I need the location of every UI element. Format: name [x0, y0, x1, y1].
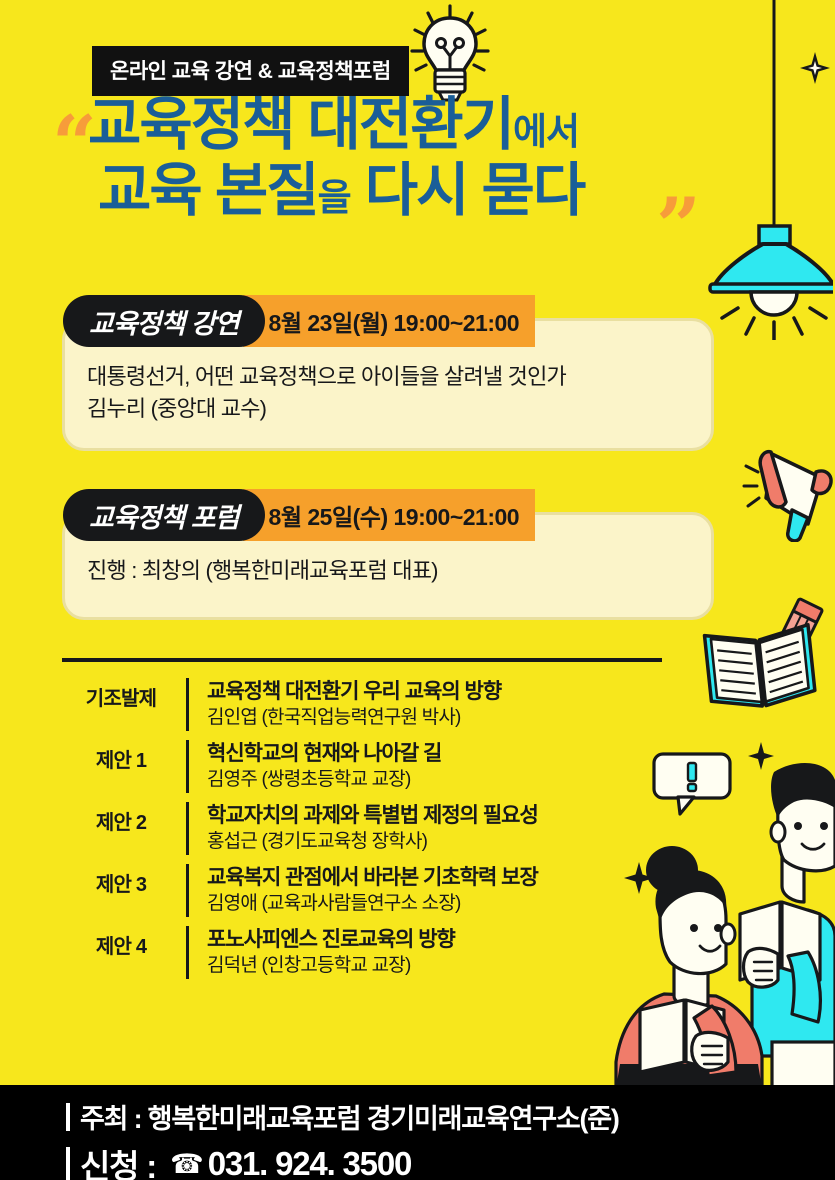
program-speaker: 김영주 (쌍령초등학교 교장)	[207, 767, 662, 793]
program-content: 학교자치의 과제와 특별법 제정의 필요성 홍섭근 (경기도교육청 장학사)	[207, 802, 662, 855]
program-label: 제안 2	[62, 802, 180, 855]
event-lecture-line-2: 김누리 (중앙대 교수)	[87, 393, 689, 425]
title-line1-suffix: 에서	[513, 111, 579, 152]
title-line2-rest: 다시 묻다	[351, 158, 585, 223]
lightbulb-icon	[405, 4, 495, 104]
program-separator	[186, 678, 189, 731]
title-line-1: 교육정책 대전환기에서	[88, 96, 726, 154]
program-row: 제안 3 교육복지 관점에서 바라본 기초학력 보장 김영애 (교육과사람들연구…	[62, 864, 662, 917]
program-title: 포노사피엔스 진로교육의 방향	[207, 926, 662, 953]
program-label: 제안 3	[62, 864, 180, 917]
program-content: 포노사피엔스 진로교육의 방향 김덕년 (인창고등학교 교장)	[207, 926, 662, 979]
footer-host-text: 주최 : 행복한미래교육포럼 경기미래교육연구소(준)	[80, 1097, 619, 1136]
quote-close-mark: ”	[656, 188, 701, 266]
program-title: 교육정책 대전환기 우리 교육의 방향	[207, 678, 662, 705]
sparkle-star-icon	[748, 742, 774, 770]
footer-accent-bar	[66, 1147, 70, 1180]
footer-host-line: 주최 : 행복한미래교육포럼 경기미래교육연구소(준)	[66, 1097, 835, 1136]
program-separator	[186, 864, 189, 917]
event-card-forum-header: 교육정책 포럼 8월 25일(수) 19:00~21:00	[63, 489, 535, 541]
sparkle-star-icon	[800, 52, 830, 84]
program-label: 기조발제	[62, 678, 180, 731]
telephone-icon: ☎	[170, 1149, 204, 1180]
program-row: 제안 1 혁신학교의 현재와 나아갈 길 김영주 (쌍령초등학교 교장)	[62, 740, 662, 793]
program-separator	[186, 802, 189, 855]
program-speaker: 김영애 (교육과사람들연구소 소장)	[207, 891, 662, 917]
program-separator	[186, 740, 189, 793]
speech-bubble-exclamation-icon	[652, 752, 732, 818]
event-lecture-line-1: 대통령선거, 어떤 교육정책으로 아이들을 살려낼 것인가	[87, 361, 689, 393]
footer-apply-line: 신청 : ☎ 031. 924. 3500	[66, 1140, 835, 1180]
footer-phone-number[interactable]: 031. 924. 3500	[208, 1145, 411, 1180]
poster-title: “ 교육정책 대전환기에서 교육 본질을 다시 묻다 ”	[26, 96, 726, 220]
megaphone-icon	[742, 432, 834, 542]
footer-accent-bar	[66, 1103, 70, 1131]
program-row: 제안 4 포노사피엔스 진로교육의 방향 김덕년 (인창고등학교 교장)	[62, 926, 662, 979]
pencil-icon	[760, 596, 826, 686]
program-separator	[186, 926, 189, 979]
event-card-lecture: 교육정책 강연 8월 23일(월) 19:00~21:00 대통령선거, 어떤 …	[62, 318, 714, 451]
header-badge: 온라인 교육 강연 & 교육정책포럼	[92, 46, 409, 96]
program-speaker: 김덕년 (인창고등학교 교장)	[207, 953, 662, 979]
footer-bar: 주최 : 행복한미래교육포럼 경기미래교육연구소(준) 신청 : ☎ 031. …	[0, 1085, 835, 1180]
event-tag-lecture: 교육정책 강연	[63, 295, 265, 347]
program-label: 제안 1	[62, 740, 180, 793]
title-line-2: 교육 본질을 다시 묻다	[98, 162, 726, 220]
title-line2-main: 교육 본질	[98, 158, 318, 223]
footer-apply-label: 신청 :	[80, 1140, 156, 1180]
program-title: 교육복지 관점에서 바라본 기초학력 보장	[207, 864, 662, 891]
program-divider	[62, 658, 662, 662]
program-speaker: 홍섭근 (경기도교육청 장학사)	[207, 829, 662, 855]
program-speaker: 김인엽 (한국직업능력연구원 박사)	[207, 705, 662, 731]
title-line2-particle: 을	[318, 177, 351, 218]
event-date-lecture: 8월 23일(월) 19:00~21:00	[243, 295, 536, 347]
quote-open-mark: “	[52, 106, 97, 184]
event-date-forum: 8월 25일(수) 19:00~21:00	[243, 489, 536, 541]
event-tag-forum: 교육정책 포럼	[63, 489, 265, 541]
event-card-forum: 교육정책 포럼 8월 25일(수) 19:00~21:00 진행 : 최창의 (…	[62, 512, 714, 620]
open-book-icon	[702, 620, 818, 712]
poster-canvas: 온라인 교육 강연 & 교육정책포럼 “ 교육정책 대전환기에서 교육 본질을 …	[0, 0, 835, 1180]
title-line1-main: 교육정책 대전환기	[88, 92, 513, 157]
program-content: 교육복지 관점에서 바라본 기초학력 보장 김영애 (교육과사람들연구소 소장)	[207, 864, 662, 917]
program-label: 제안 4	[62, 926, 180, 979]
event-forum-line-1: 진행 : 최창의 (행복한미래교육포럼 대표)	[87, 555, 689, 587]
program-title: 혁신학교의 현재와 나아갈 길	[207, 740, 662, 767]
program-row: 제안 2 학교자치의 과제와 특별법 제정의 필요성 홍섭근 (경기도교육청 장…	[62, 802, 662, 855]
program-content: 혁신학교의 현재와 나아갈 길 김영주 (쌍령초등학교 교장)	[207, 740, 662, 793]
program-list: 기조발제 교육정책 대전환기 우리 교육의 방향 김인엽 (한국직업능력연구원 …	[62, 658, 662, 988]
program-title: 학교자치의 과제와 특별법 제정의 필요성	[207, 802, 662, 829]
program-row: 기조발제 교육정책 대전환기 우리 교육의 방향 김인엽 (한국직업능력연구원 …	[62, 678, 662, 731]
program-content: 교육정책 대전환기 우리 교육의 방향 김인엽 (한국직업능력연구원 박사)	[207, 678, 662, 731]
event-card-lecture-header: 교육정책 강연 8월 23일(월) 19:00~21:00	[63, 295, 535, 347]
